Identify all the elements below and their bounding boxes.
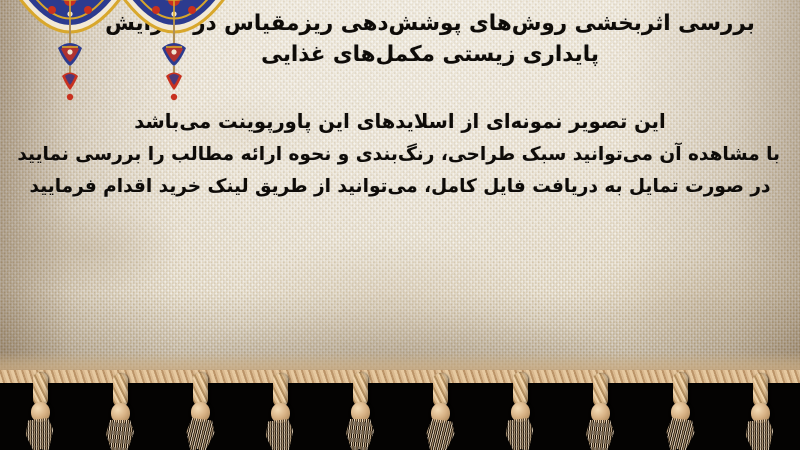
tassel bbox=[743, 373, 777, 450]
tassel-skirt bbox=[504, 417, 536, 450]
body-line: این تصویر نمونه‌ای از اسلایدهای این پاور… bbox=[20, 112, 780, 132]
tassel bbox=[263, 373, 297, 450]
tassel-skirt bbox=[264, 418, 296, 450]
tassel-skirt bbox=[106, 420, 134, 450]
tassel bbox=[663, 372, 697, 450]
tassel-skirt bbox=[744, 418, 776, 450]
tassel bbox=[23, 372, 57, 450]
tassel-skirt bbox=[424, 418, 456, 450]
tassel bbox=[423, 373, 457, 450]
tasseled-fringe-border bbox=[0, 352, 800, 450]
tassel-skirt bbox=[24, 417, 56, 450]
tassel-cord bbox=[193, 372, 208, 406]
tassel-cord bbox=[673, 372, 688, 406]
tassel-cord bbox=[513, 372, 528, 406]
tassel-cord bbox=[113, 373, 128, 407]
tassel-skirt bbox=[664, 417, 696, 450]
slide-canvas: بررسی اثربخشی روش‌های پوشش‌دهی ریزمقیاس … bbox=[0, 0, 800, 450]
tassel-cord bbox=[33, 372, 48, 406]
tassel-cord bbox=[353, 372, 368, 406]
tassel bbox=[183, 372, 217, 450]
tassel-skirt bbox=[184, 417, 216, 450]
tassel bbox=[503, 372, 537, 450]
tassel bbox=[583, 373, 617, 450]
tassel-skirt bbox=[586, 420, 614, 450]
body-line: در صورت تمایل به دریافت فایل کامل، می‌تو… bbox=[20, 178, 780, 197]
slide-body: این تصویر نمونه‌ای از اسلایدهای این پاور… bbox=[20, 112, 780, 211]
tassel-cord bbox=[753, 373, 768, 407]
slide-title: بررسی اثربخشی روش‌های پوشش‌دهی ریزمقیاس … bbox=[100, 9, 760, 70]
body-line: با مشاهده آن می‌توانید سبک طراحی، رنگ‌بن… bbox=[20, 146, 780, 165]
tassel bbox=[103, 373, 137, 450]
tassel-cord bbox=[433, 373, 448, 407]
slide-text-layer: بررسی اثربخشی روش‌های پوشش‌دهی ریزمقیاس … bbox=[0, 0, 800, 384]
tassel bbox=[343, 372, 377, 450]
tassel-skirt bbox=[346, 419, 374, 450]
tassel-cord bbox=[593, 373, 608, 407]
tassel-cord bbox=[273, 373, 288, 407]
